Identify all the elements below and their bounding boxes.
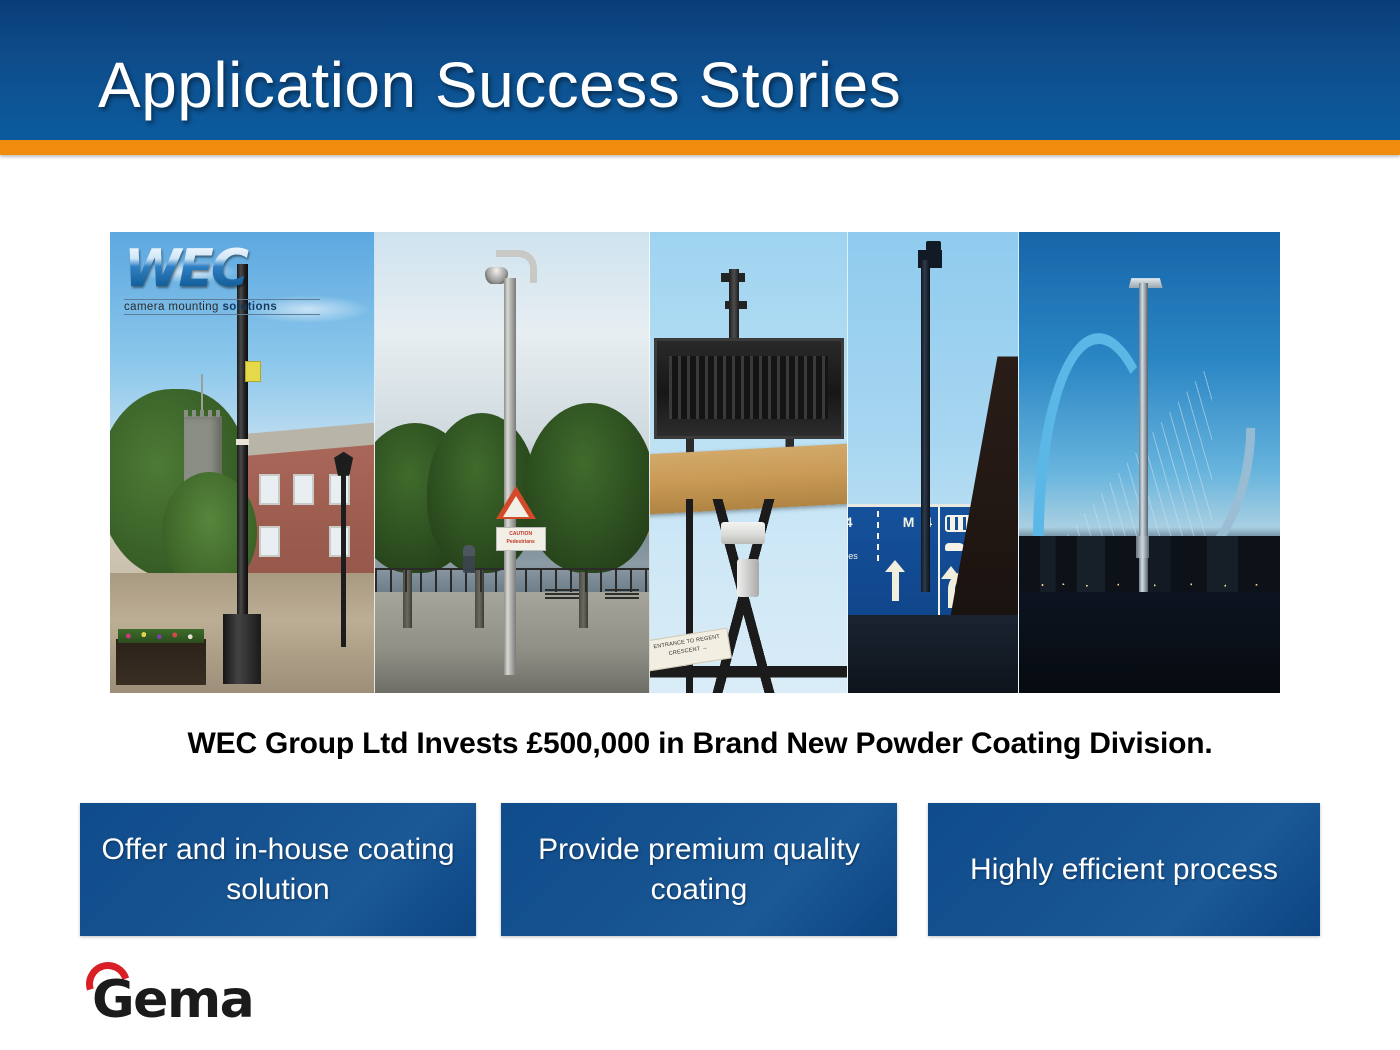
column-base [223,614,261,684]
pole-label-tag [245,361,261,382]
application-photo-strip: WEC camera mounting solutions CAUTION Pe… [110,232,1280,693]
wec-logo-tagline: camera mounting solutions [124,299,320,315]
gema-logo-text: Gema [92,970,253,1030]
window [259,526,280,557]
cctv-column [504,278,516,674]
wec-tagline-bold: solutions [222,301,277,313]
caution-sign-plate: CAUTION Pedestrians [496,527,546,551]
sign-text-services: ices [848,551,857,561]
gema-logo: Gema [82,962,312,1024]
foreground-shadow [1019,592,1280,693]
wec-tagline-light: camera mounting [124,301,222,313]
photo-millennium-bridge-lighting-column [1019,232,1280,693]
headline-text: WEC Group Ltd Invests £500,000 in Brand … [0,727,1400,761]
column-joint [1136,536,1149,558]
benefit-box-3-label: Highly efficient process [970,850,1278,890]
wec-logo-wordmark: WEC [124,240,329,298]
wec-logo: WEC camera mounting solutions [124,240,329,322]
pole-band [236,439,249,445]
benefit-box-2-label: Provide premium quality coating [501,830,897,910]
sign-route-left: 4 [848,514,852,530]
photo-motorway-sign-cctv: 4 M 4 ices taxi [848,232,1018,693]
benefit-box-3[interactable]: Highly efficient process [928,803,1320,936]
arrow-up-icon [892,571,899,601]
sign-panel-divider [938,507,940,618]
benefit-box-1[interactable]: Offer and in-house coating solution [80,803,476,936]
bench [605,589,639,601]
window [329,474,350,505]
taxi-icon [945,543,965,551]
sign-lane-divider [877,511,879,564]
pedestrian-warning-sign [496,486,536,519]
orange-accent-bar [0,140,1400,155]
cctv-column [921,260,930,592]
benefit-box-group: Offer and in-house coating solution Prov… [80,803,1320,936]
window [293,474,314,505]
flower-planter [116,639,206,685]
window [329,526,350,557]
window [259,474,280,505]
photo-waterfront-cctv-column: CAUTION Pedestrians [375,232,650,693]
gantry-enclosure [654,338,843,439]
city-lights [1019,581,1280,589]
page-title: Application Success Stories [98,48,901,122]
photo-wec-town-square-lamp-column: WEC camera mounting solutions [110,232,375,693]
bench [545,589,579,601]
benefit-box-2[interactable]: Provide premium quality coating [501,803,897,936]
ptz-camera-mount [737,559,759,597]
mast [729,269,739,347]
roadway [848,615,1017,693]
photo-steel-gantry-camera: ENTRANCE TO REGENT CRESCENT → [650,232,848,693]
street-lamp [341,472,346,647]
pedestrian [463,545,475,573]
ptz-camera-housing [721,522,765,544]
benefit-box-1-label: Offer and in-house coating solution [80,830,476,910]
